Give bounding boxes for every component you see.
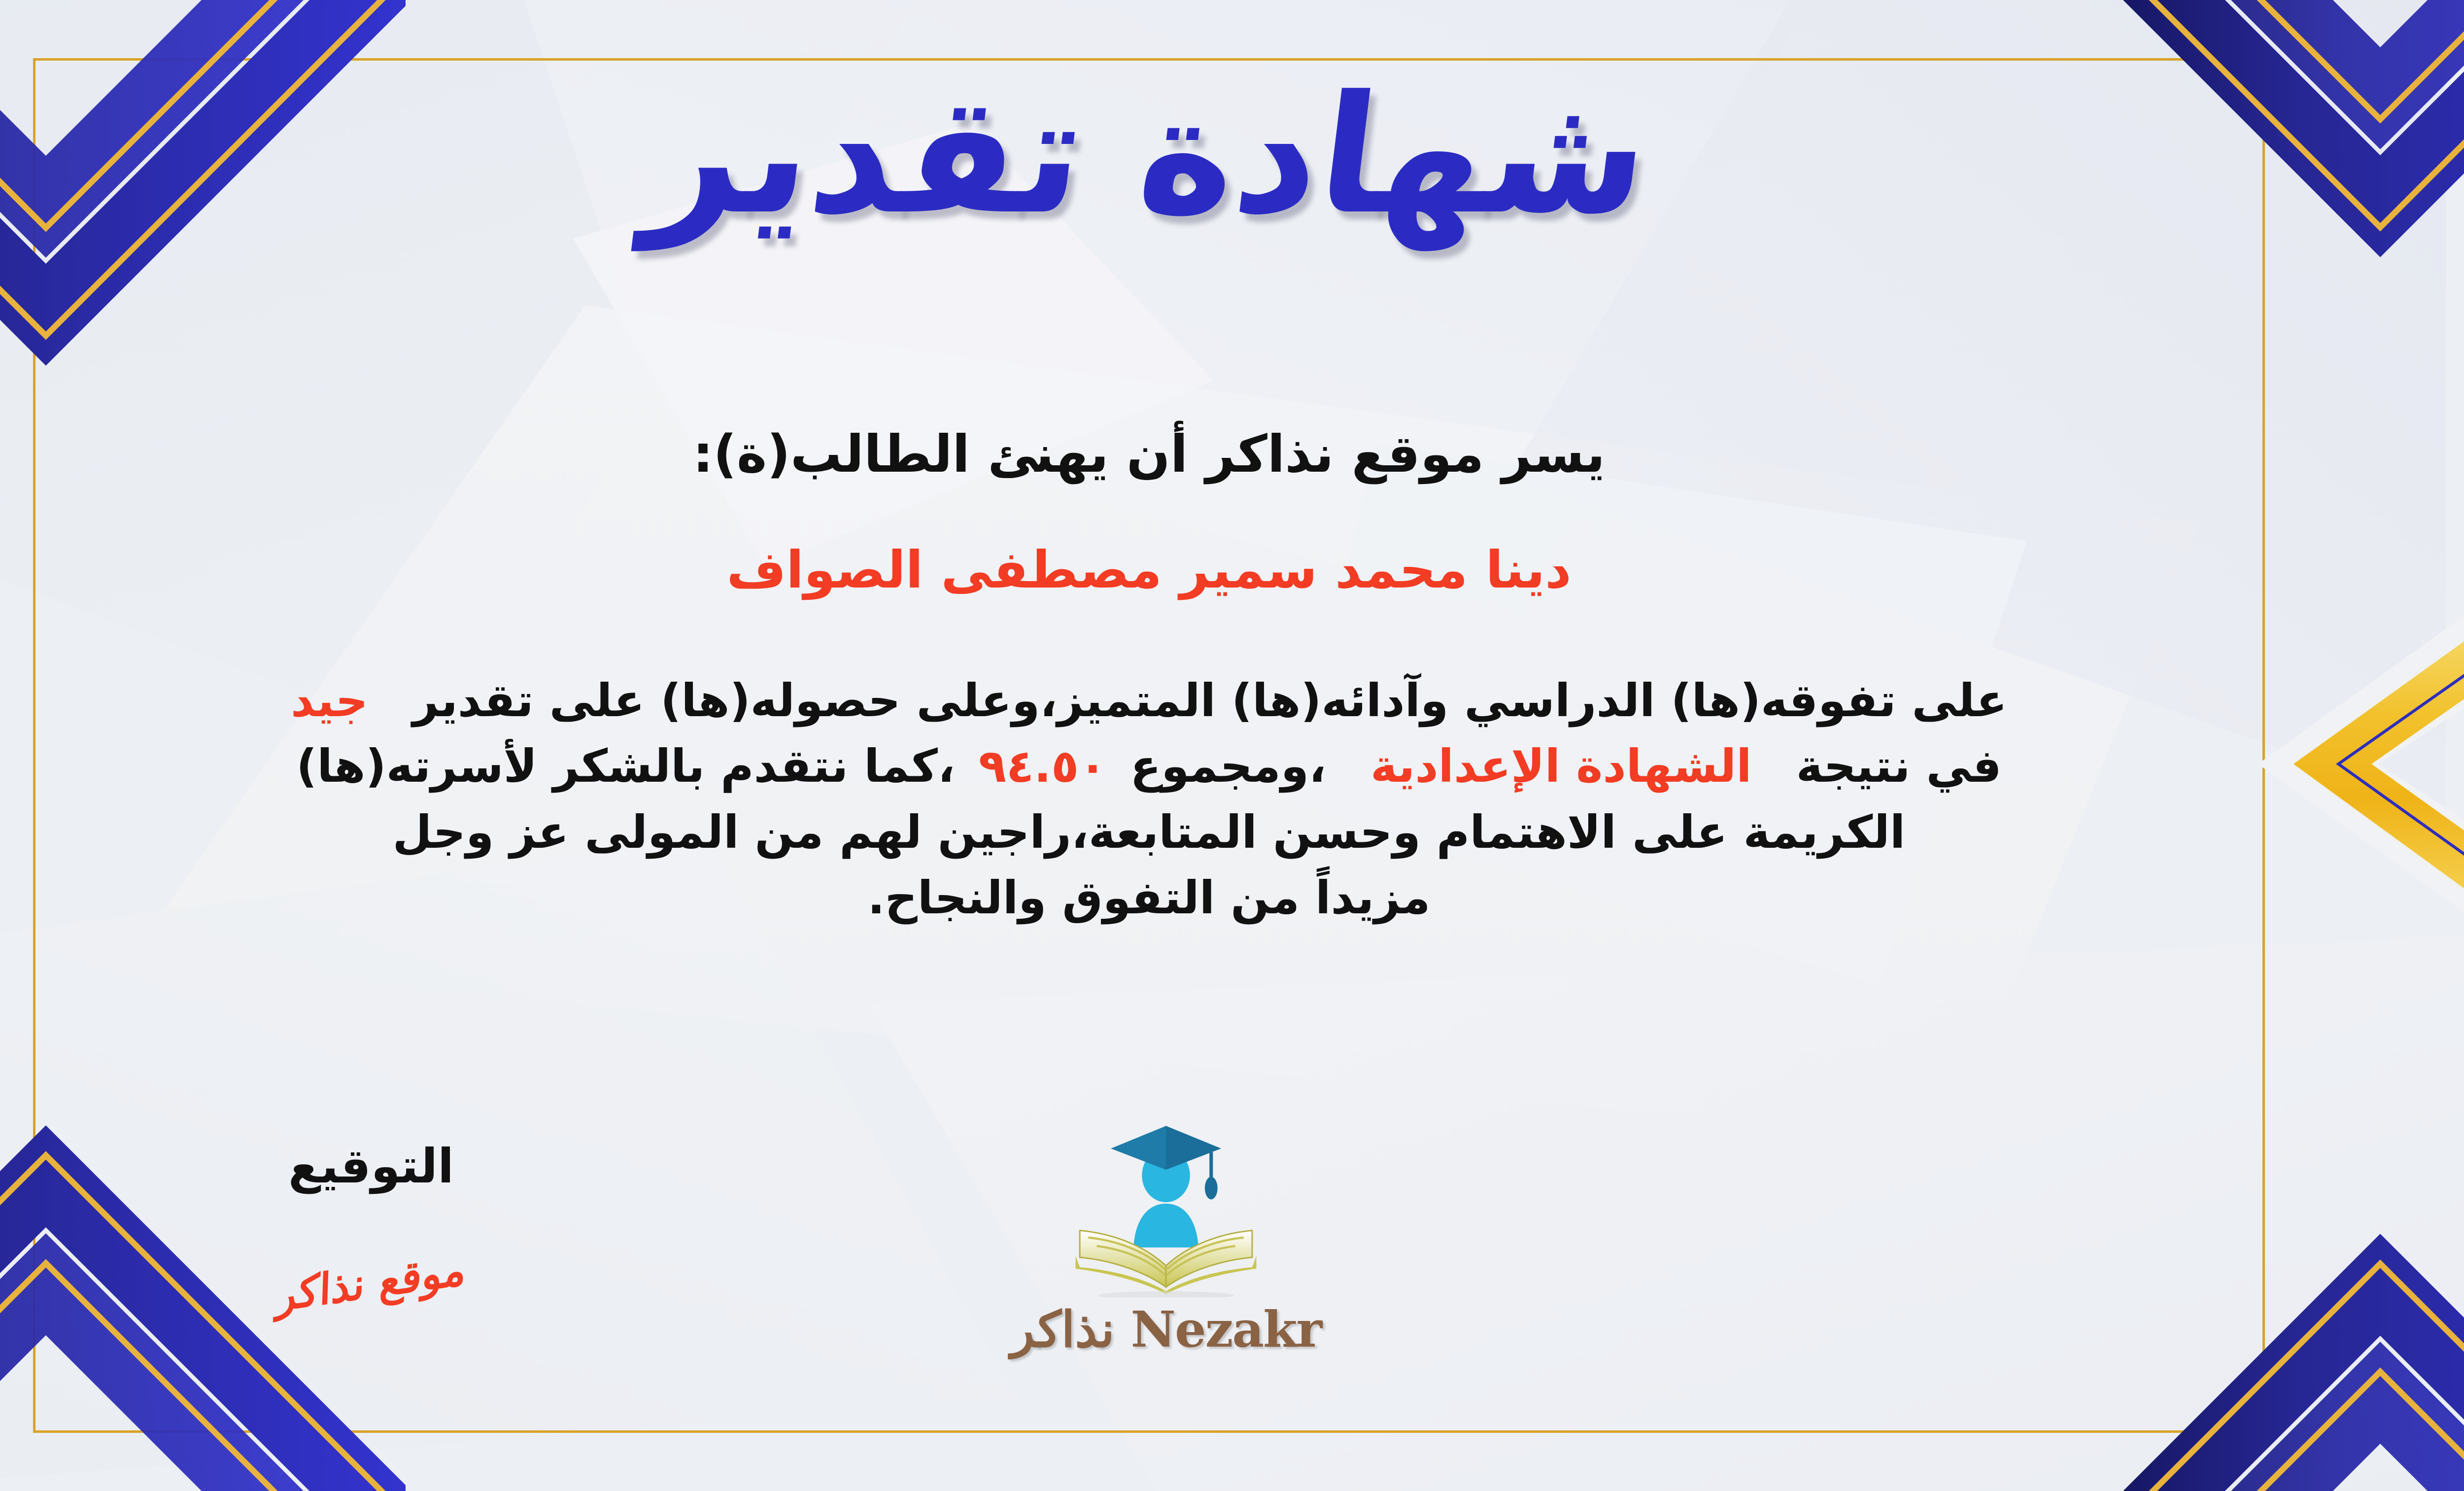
- total-label: ،ومجموع: [1130, 740, 1326, 793]
- greeting-line: يسر موقع نذاكر أن يهنئ الطالب(ة):: [0, 424, 2464, 484]
- body-line-3: الكريمة على الاهتمام وحسن المتابعة،راجين…: [0, 799, 2336, 865]
- logo-wordmark: Nezakr نذاكر: [944, 1300, 1388, 1358]
- exam-result-prefix: في نتيجة: [1796, 740, 2002, 793]
- grade-value: جيد: [291, 674, 368, 727]
- certificate-page: شهادة تقدير يسر موقع نذاكر أن يهنئ الطال…: [0, 0, 2464, 1491]
- signature-label: التوقيع: [199, 1139, 544, 1194]
- graduate-book-logo-icon: [1060, 1120, 1272, 1297]
- site-logo: Nezakr نذاكر: [944, 1120, 1388, 1358]
- exam-name: الشهادة الإعدادية: [1370, 740, 1752, 793]
- certificate-body: على تفوقه(ها) الدراسي وآدائه(ها) المتميز…: [0, 668, 2336, 931]
- certificate-title: شهادة تقدير: [0, 74, 2464, 237]
- body-line-4: مزيداً من التفوق والنجاح.: [0, 865, 2336, 931]
- total-score: ٩٤.٥٠: [979, 740, 1107, 793]
- thanks-clause: ،كما نتقدم بالشكر لأسرته(ها): [296, 740, 955, 793]
- body-line-2: في نتيجةالشهادة الإعدادية،ومجموع٩٤.٥٠،كم…: [0, 733, 2336, 799]
- signature-block: التوقيع موقع نذاكر: [199, 1139, 544, 1308]
- body-line-1-text: على تفوقه(ها) الدراسي وآدائه(ها) المتميز…: [412, 674, 2007, 727]
- signature-handwriting: موقع نذاكر: [200, 1234, 543, 1332]
- body-line-1: على تفوقه(ها) الدراسي وآدائه(ها) المتميز…: [0, 668, 2336, 733]
- student-name: دينا محمد سمير مصطفى الصواف: [0, 540, 2464, 600]
